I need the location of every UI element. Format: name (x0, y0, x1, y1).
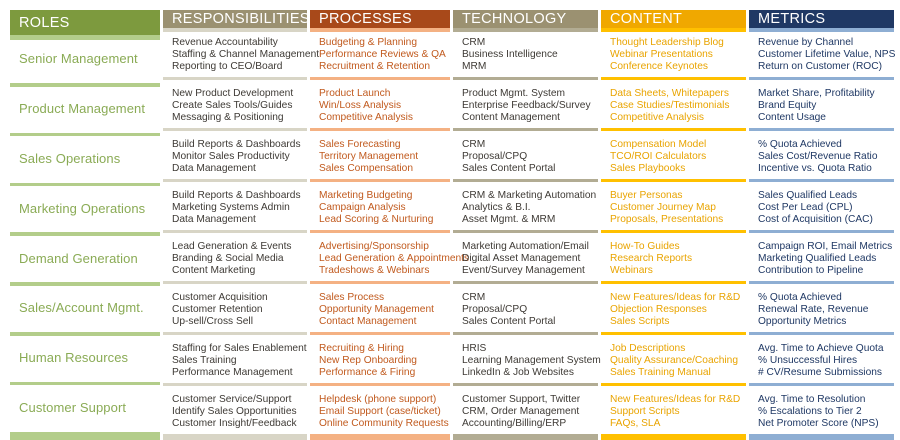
cell-line: Marketing Qualified Leads (758, 253, 894, 265)
cell-proc: Sales ProcessOpportunity ManagementConta… (310, 287, 450, 328)
cell-line: New Features/Ideas for R&D (610, 394, 746, 406)
row-separator-metr (749, 128, 894, 131)
cell-line: Customer Journey Map (610, 202, 746, 214)
cell-cont: How-To GuidesResearch ReportsWebinars (601, 236, 746, 277)
row-separator-resp (163, 77, 307, 80)
cell-line: Brand Equity (758, 100, 894, 112)
cell-line: Sales Training Manual (610, 367, 746, 379)
matrix-column-roles: ROLESSenior ManagementProduct Management… (10, 0, 160, 440)
cell-cont: Job DescriptionsQuality Assurance/Coachi… (601, 338, 746, 379)
column-header-metr: METRICS (749, 10, 894, 28)
row-separator-cont (601, 179, 746, 182)
cell-line: New Rep Onboarding (319, 355, 450, 367)
cell-line: Customer Lifetime Value, NPS (758, 49, 894, 61)
responsibility-matrix: ROLESSenior ManagementProduct Management… (0, 0, 900, 440)
row-separator-tech (453, 383, 598, 386)
cell-line: Revenue by Channel (758, 37, 894, 49)
cell-tech: Customer Support, TwitterCRM, Order Mana… (453, 389, 598, 430)
cell-line: LinkedIn & Job Websites (462, 367, 598, 379)
cell-proc: Advertising/SponsorshipLead Generation &… (310, 236, 450, 277)
cell-line: Territory Management (319, 151, 450, 163)
cell-proc: Helpdesk (phone support)Email Support (c… (310, 389, 450, 430)
cell-line: Opportunity Metrics (758, 316, 894, 328)
row-separator-tech (453, 179, 598, 182)
cell-line: Accounting/Billing/ERP (462, 418, 598, 430)
row-separator-roles (10, 382, 160, 386)
cell-line: Performance & Firing (319, 367, 450, 379)
cell-tech: Product Mgmt. SystemEnterprise Feedback/… (453, 83, 598, 124)
cell-line: New Features/Ideas for R&D (610, 292, 746, 304)
cell-line: Customer Support, Twitter (462, 394, 598, 406)
cell-line: Marketing Automation/Email (462, 241, 598, 253)
row-separator-tech (453, 128, 598, 131)
row-separator-roles (10, 133, 160, 137)
cell-line: Product Launch (319, 88, 450, 100)
cell-cont: New Features/Ideas for R&DObjection Resp… (601, 287, 746, 328)
cell-tech: Marketing Automation/EmailDigital Asset … (453, 236, 598, 277)
cell-line: Event/Survey Management (462, 265, 598, 277)
cell-line: Research Reports (610, 253, 746, 265)
column-footer-roles (10, 432, 160, 440)
cell-proc: Recruiting & HiringNew Rep OnboardingPer… (310, 338, 450, 379)
cell-resp: Customer Service/SupportIdentify Sales O… (163, 389, 307, 430)
cell-line: Campaign Analysis (319, 202, 450, 214)
cell-line: Staffing & Channel Management (172, 49, 307, 61)
cell-line: # CV/Resume Submissions (758, 367, 894, 379)
cell-line: Monitor Sales Productivity (172, 151, 307, 163)
row-separator-cont (601, 383, 746, 386)
matrix-column-cont: CONTENTThought Leadership BlogWebinar Pr… (601, 0, 746, 440)
cell-metr: % Quota AchievedRenewal Rate, RevenueOpp… (749, 287, 894, 328)
cell-line: Net Promoter Score (NPS) (758, 418, 894, 430)
cell-line: Cost of Acquisition (CAC) (758, 214, 894, 226)
row-separator-cont (601, 230, 746, 233)
cell-line: Data Sheets, Whitepapers (610, 88, 746, 100)
cell-line: Build Reports & Dashboards (172, 190, 307, 202)
cell-resp: Lead Generation & EventsBranding & Socia… (163, 236, 307, 277)
row-separator-proc (310, 281, 450, 284)
row-separator-metr (749, 77, 894, 80)
cell-line: HRIS (462, 343, 598, 355)
cell-line: Marketing Systems Admin (172, 202, 307, 214)
cell-line: Webinars (610, 265, 746, 277)
cell-line: Sales Training (172, 355, 307, 367)
row-separator-roles (10, 183, 160, 187)
cell-line: CRM (462, 292, 598, 304)
cell-proc: Budgeting & PlanningPerformance Reviews … (310, 32, 450, 73)
cell-line: Branding & Social Media (172, 253, 307, 265)
cell-line: % Escalations to Tier 2 (758, 406, 894, 418)
cell-line: Incentive vs. Quota Ratio (758, 163, 894, 175)
cell-line: Analytics & B.I. (462, 202, 598, 214)
cell-line: Recruitment & Retention (319, 61, 450, 73)
role-label-cell: Marketing Operations (10, 189, 160, 228)
cell-line: Sales Content Portal (462, 163, 598, 175)
row-separator-proc (310, 230, 450, 233)
cell-metr: % Quota AchievedSales Cost/Revenue Ratio… (749, 134, 894, 175)
cell-line: Advertising/Sponsorship (319, 241, 450, 253)
row-separator-roles (10, 232, 160, 236)
cell-tech: CRMProposal/CPQSales Content Portal (453, 134, 598, 175)
cell-cont: New Features/Ideas for R&DSupport Script… (601, 389, 746, 430)
cell-line: Recruiting & Hiring (319, 343, 450, 355)
cell-line: Conference Keynotes (610, 61, 746, 73)
cell-line: Learning Management System (462, 355, 598, 367)
row-separator-metr (749, 383, 894, 386)
cell-line: Performance Management (172, 367, 307, 379)
cell-tech: CRMProposal/CPQSales Content Portal (453, 287, 598, 328)
cell-line: Sales Qualified Leads (758, 190, 894, 202)
cell-line: % Unsuccessful Hires (758, 355, 894, 367)
cell-line: Return on Customer (ROC) (758, 61, 894, 73)
cell-metr: Market Share, ProfitabilityBrand EquityC… (749, 83, 894, 124)
cell-line: Messaging & Positioning (172, 112, 307, 124)
cell-line: Staffing for Sales Enablement (172, 343, 307, 355)
row-separator-cont (601, 128, 746, 131)
cell-line: Job Descriptions (610, 343, 746, 355)
cell-line: Proposals, Presentations (610, 214, 746, 226)
cell-line: MRM (462, 61, 598, 73)
cell-line: CRM (462, 139, 598, 151)
row-separator-tech (453, 230, 598, 233)
cell-line: Customer Service/Support (172, 394, 307, 406)
cell-line: Win/Loss Analysis (319, 100, 450, 112)
cell-line: Market Share, Profitability (758, 88, 894, 100)
cell-line: Quality Assurance/Coaching (610, 355, 746, 367)
cell-line: Data Management (172, 163, 307, 175)
row-separator-roles (10, 282, 160, 286)
cell-metr: Avg. Time to Achieve Quota% Unsuccessful… (749, 338, 894, 379)
cell-line: Sales Compensation (319, 163, 450, 175)
cell-metr: Avg. Time to Resolution% Escalations to … (749, 389, 894, 430)
cell-resp: Revenue AccountabilityStaffing & Channel… (163, 32, 307, 73)
matrix-columns: ROLESSenior ManagementProduct Management… (10, 0, 893, 440)
cell-line: Helpdesk (phone support) (319, 394, 450, 406)
cell-line: Avg. Time to Achieve Quota (758, 343, 894, 355)
cell-line: Data Management (172, 214, 307, 226)
cell-proc: Sales ForecastingTerritory ManagementSal… (310, 134, 450, 175)
cell-line: Avg. Time to Resolution (758, 394, 894, 406)
cell-line: Product Mgmt. System (462, 88, 598, 100)
matrix-column-proc: PROCESSESBudgeting & PlanningPerformance… (310, 0, 450, 440)
cell-line: Lead Scoring & Nurturing (319, 214, 450, 226)
cell-line: Enterprise Feedback/Survey (462, 100, 598, 112)
cell-cont: Thought Leadership BlogWebinar Presentat… (601, 32, 746, 73)
cell-cont: Compensation ModelTCO/ROI CalculatorsSal… (601, 134, 746, 175)
cell-metr: Sales Qualified LeadsCost Per Lead (CPL)… (749, 185, 894, 226)
cell-tech: HRISLearning Management SystemLinkedIn &… (453, 338, 598, 379)
cell-line: Buyer Personas (610, 190, 746, 202)
cell-line: Up-sell/Cross Sell (172, 316, 307, 328)
row-separator-roles (10, 332, 160, 336)
cell-line: Customer Retention (172, 304, 307, 316)
row-separator-metr (749, 281, 894, 284)
cell-resp: Staffing for Sales EnablementSales Train… (163, 338, 307, 379)
cell-line: TCO/ROI Calculators (610, 151, 746, 163)
cell-line: Identify Sales Opportunities (172, 406, 307, 418)
cell-line: Thought Leadership Blog (610, 37, 746, 49)
role-label-cell: Product Management (10, 90, 160, 129)
cell-resp: Customer AcquisitionCustomer RetentionUp… (163, 287, 307, 328)
cell-line: New Product Development (172, 88, 307, 100)
cell-line: Sales Cost/Revenue Ratio (758, 151, 894, 163)
cell-line: Case Studies/Testimonials (610, 100, 746, 112)
row-separator-roles (10, 83, 160, 87)
role-label-cell: Senior Management (10, 40, 160, 79)
row-separator-proc (310, 77, 450, 80)
cell-proc: Product LaunchWin/Loss AnalysisCompetiti… (310, 83, 450, 124)
matrix-column-metr: METRICSRevenue by ChannelCustomer Lifeti… (749, 0, 894, 440)
cell-line: Lead Generation & Events (172, 241, 307, 253)
cell-line: Digital Asset Management (462, 253, 598, 265)
row-separator-resp (163, 179, 307, 182)
cell-line: Create Sales Tools/Guides (172, 100, 307, 112)
row-separator-resp (163, 230, 307, 233)
column-header-tech: TECHNOLOGY (453, 10, 598, 28)
cell-tech: CRM & Marketing AutomationAnalytics & B.… (453, 185, 598, 226)
cell-line: Content Management (462, 112, 598, 124)
cell-line: CRM (462, 37, 598, 49)
row-separator-proc (310, 128, 450, 131)
cell-line: Sales Content Portal (462, 316, 598, 328)
cell-tech: CRMBusiness IntelligenceMRM (453, 32, 598, 73)
cell-cont: Data Sheets, WhitepapersCase Studies/Tes… (601, 83, 746, 124)
cell-line: Customer Acquisition (172, 292, 307, 304)
row-separator-resp (163, 128, 307, 131)
cell-line: CRM, Order Management (462, 406, 598, 418)
cell-line: Objection Responses (610, 304, 746, 316)
cell-line: % Quota Achieved (758, 292, 894, 304)
row-separator-cont (601, 281, 746, 284)
cell-line: Renewal Rate, Revenue (758, 304, 894, 316)
cell-line: Customer Insight/Feedback (172, 418, 307, 430)
row-separator-tech (453, 332, 598, 335)
row-separator-metr (749, 230, 894, 233)
column-footer-cont (601, 434, 746, 440)
cell-line: How-To Guides (610, 241, 746, 253)
role-label-cell: Sales Operations (10, 139, 160, 178)
cell-line: Opportunity Management (319, 304, 450, 316)
column-footer-resp (163, 434, 307, 440)
cell-line: Competitive Analysis (610, 112, 746, 124)
row-separator-proc (310, 383, 450, 386)
cell-line: Build Reports & Dashboards (172, 139, 307, 151)
column-footer-proc (310, 434, 450, 440)
row-separator-proc (310, 179, 450, 182)
cell-line: Proposal/CPQ (462, 304, 598, 316)
column-header-proc: PROCESSES (310, 10, 450, 28)
cell-line: Email Support (case/ticket) (319, 406, 450, 418)
cell-line: Webinar Presentations (610, 49, 746, 61)
column-footer-metr (749, 434, 894, 440)
row-separator-tech (453, 77, 598, 80)
cell-line: Asset Mgmt. & MRM (462, 214, 598, 226)
cell-line: Online Community Requests (319, 418, 450, 430)
row-separator-cont (601, 77, 746, 80)
cell-line: Campaign ROI, Email Metrics (758, 241, 894, 253)
cell-line: Sales Forecasting (319, 139, 450, 151)
cell-line: Performance Reviews & QA (319, 49, 450, 61)
column-header-resp: RESPONSIBILITIES (163, 10, 307, 28)
cell-line: Business Intelligence (462, 49, 598, 61)
cell-cont: Buyer PersonasCustomer Journey MapPropos… (601, 185, 746, 226)
row-separator-resp (163, 383, 307, 386)
cell-metr: Campaign ROI, Email MetricsMarketing Qua… (749, 236, 894, 277)
cell-line: Budgeting & Planning (319, 37, 450, 49)
cell-line: Contribution to Pipeline (758, 265, 894, 277)
cell-line: Tradeshows & Webinars (319, 265, 450, 277)
role-label-cell: Human Resources (10, 339, 160, 378)
row-separator-resp (163, 332, 307, 335)
cell-line: Cost Per Lead (CPL) (758, 202, 894, 214)
row-separator-cont (601, 332, 746, 335)
cell-line: Sales Playbooks (610, 163, 746, 175)
column-header-cont: CONTENT (601, 10, 746, 28)
row-separator-tech (453, 281, 598, 284)
row-separator-resp (163, 281, 307, 284)
cell-resp: New Product DevelopmentCreate Sales Tool… (163, 83, 307, 124)
cell-line: Proposal/CPQ (462, 151, 598, 163)
cell-metr: Revenue by ChannelCustomer Lifetime Valu… (749, 32, 894, 73)
cell-line: Support Scripts (610, 406, 746, 418)
role-label-cell: Customer Support (10, 388, 160, 427)
cell-line: Content Usage (758, 112, 894, 124)
cell-line: Revenue Accountability (172, 37, 307, 49)
cell-line: CRM & Marketing Automation (462, 190, 598, 202)
matrix-column-resp: RESPONSIBILITIESRevenue AccountabilitySt… (163, 0, 307, 440)
column-footer-tech (453, 434, 598, 440)
cell-line: Lead Generation & Appointments (319, 253, 450, 265)
cell-line: Compensation Model (610, 139, 746, 151)
cell-line: Competitive Analysis (319, 112, 450, 124)
cell-line: FAQs, SLA (610, 418, 746, 430)
cell-resp: Build Reports & DashboardsMonitor Sales … (163, 134, 307, 175)
role-label-cell: Sales/Account Mgmt. (10, 289, 160, 328)
cell-line: % Quota Achieved (758, 139, 894, 151)
cell-resp: Build Reports & DashboardsMarketing Syst… (163, 185, 307, 226)
row-separator-metr (749, 179, 894, 182)
row-separator-proc (310, 332, 450, 335)
cell-line: Content Marketing (172, 265, 307, 277)
cell-line: Sales Scripts (610, 316, 746, 328)
role-label-cell: Demand Generation (10, 239, 160, 278)
cell-proc: Marketing BudgetingCampaign AnalysisLead… (310, 185, 450, 226)
cell-line: Contact Management (319, 316, 450, 328)
matrix-column-tech: TECHNOLOGYCRMBusiness IntelligenceMRMPro… (453, 0, 598, 440)
cell-line: Sales Process (319, 292, 450, 304)
row-separator-metr (749, 332, 894, 335)
column-header-roles: ROLES (10, 10, 160, 35)
cell-line: Marketing Budgeting (319, 190, 450, 202)
cell-line: Reporting to CEO/Board (172, 61, 307, 73)
